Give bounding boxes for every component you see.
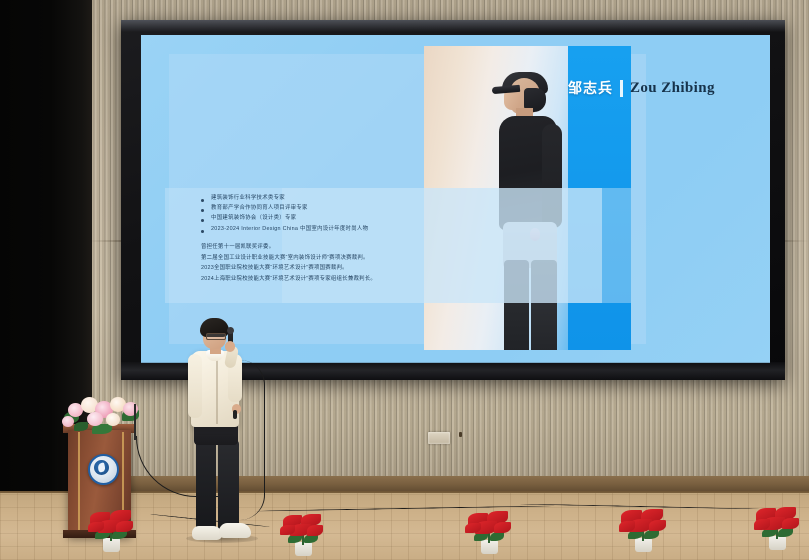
slide-name-row: 邹志兵 Zou Zhibing	[568, 78, 715, 98]
presenter-arm-left	[188, 354, 202, 418]
slide-bullet-item: 中国建筑装饰协会（设计类）专家	[201, 215, 501, 222]
microphone-stand	[134, 404, 136, 440]
bullet-dot-icon	[201, 230, 204, 233]
slide-name-english: Zou Zhibing	[630, 80, 715, 97]
paragraph-line: 2024上海职业院校技能大赛“环境艺术设计”赛项专家组组长兼裁判长。	[201, 274, 531, 285]
bullet-text: 建筑装饰行业科学技术类专家	[211, 195, 285, 202]
poinsettia-plant	[86, 504, 136, 552]
poinsettia-plant	[278, 508, 328, 556]
poinsettia-plant	[464, 506, 514, 554]
slide-paragraph-block: 曾担任第十一届凯联奖评委。 第二届全国工业设计职业技能大赛“室内装饰设计师”赛项…	[201, 242, 531, 284]
bullet-dot-icon	[201, 199, 204, 202]
bullet-text: 2023-2024 Interior Design China 中国室内设计年度…	[211, 226, 368, 233]
poinsettia-plant	[752, 502, 802, 550]
slide-bullet-item: 2023-2024 Interior Design China 中国室内设计年度…	[201, 226, 501, 233]
wall-fixture-dot	[459, 432, 462, 437]
presenter-shoe-right	[219, 523, 251, 538]
slide-bullet-item: 教育部产学合作协同育人项目评审专家	[201, 205, 501, 212]
presenter-hand-holding-mic	[225, 341, 235, 352]
microphone-head-icon	[227, 327, 234, 334]
presenter-leg-right	[218, 440, 239, 530]
name-divider-bar	[620, 80, 623, 97]
podium-trim-left	[78, 432, 80, 532]
bullet-text: 中国建筑装饰协会（设计类）专家	[211, 215, 296, 222]
presenter-shirt-placket	[216, 356, 218, 424]
slide-bullet-item: 建筑装饰行业科学技术类专家	[201, 195, 501, 202]
presenter-leg-left	[196, 440, 216, 530]
slide-name-chinese: 邹志兵	[568, 78, 613, 98]
presentation-scene-photo: 邹志兵 Zou Zhibing 建筑装饰行业科学技术类专家 教育部产学合作协同育…	[0, 0, 809, 560]
projection-screen: 邹志兵 Zou Zhibing 建筑装饰行业科学技术类专家 教育部产学合作协同育…	[141, 35, 770, 363]
paragraph-line: 第二届全国工业设计职业技能大赛“室内装饰设计师”赛项决赛裁判。	[201, 253, 531, 264]
presenter-glasses	[206, 333, 226, 340]
microphone-cable-secondary	[240, 360, 265, 520]
podium-flower-arrangement	[62, 394, 142, 436]
bullet-dot-icon	[201, 209, 204, 212]
wall-outlet	[428, 432, 450, 444]
slide-bullet-list: 建筑装饰行业科学技术类专家 教育部产学合作协同育人项目评审专家 中国建筑装饰协会…	[201, 195, 501, 236]
paragraph-line: 2023全国职业院校技能大赛“环境艺术设计”赛项国赛裁判。	[201, 263, 531, 274]
paragraph-line: 曾担任第十一届凯联奖评委。	[201, 242, 531, 253]
presentation-clicker	[233, 410, 237, 419]
bullet-text: 教育部产学合作协同育人项目评审专家	[211, 205, 308, 212]
bezel-top-reflection	[121, 20, 785, 32]
presenter-shoe-left	[192, 526, 222, 540]
bullet-dot-icon	[201, 219, 204, 222]
poinsettia-plant	[618, 504, 668, 552]
